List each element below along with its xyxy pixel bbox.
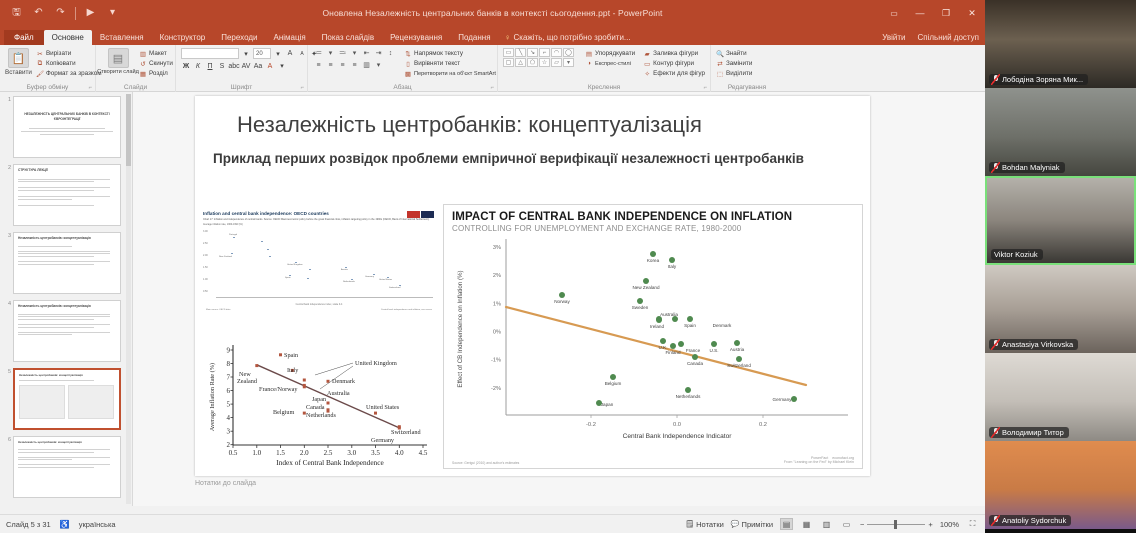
svg-text:1.5: 1.5 bbox=[276, 449, 285, 457]
numbering-icon[interactable]: ≕ bbox=[337, 48, 348, 58]
cut-button[interactable]: ✂ Вирізати bbox=[36, 49, 102, 58]
svg-text:Japan: Japan bbox=[312, 396, 326, 403]
replace-button[interactable]: ⇄ Замінити bbox=[716, 59, 752, 68]
svg-text:U.S.: U.S. bbox=[710, 348, 719, 353]
svg-text:2.0: 2.0 bbox=[300, 449, 309, 457]
slide-thumbnail-5[interactable]: 5 Незалежність центробанків: концептуалі… bbox=[2, 368, 124, 430]
participant-name-chip: Bohdan Malyniak bbox=[989, 162, 1065, 173]
format-painter-button[interactable]: 🖌 Формат за зразком bbox=[36, 69, 102, 78]
increase-indent-icon[interactable]: ⇥ bbox=[373, 48, 384, 58]
bulletin-note: Average inflation rate, 1960-1990 (%) bbox=[203, 223, 435, 226]
svg-text:Canada: Canada bbox=[687, 361, 704, 366]
ribbon-body: 📋 Вставити ✂ Вирізати ⧉ Копіювати bbox=[0, 45, 985, 92]
quick-access-toolbar[interactable]: 🖫 ↶ ↷ ▶ ▾ bbox=[0, 6, 120, 21]
title-bar: 🖫 ↶ ↷ ▶ ▾ Оновлена Незалежність централь… bbox=[0, 0, 985, 26]
arrange-icon: ▤ bbox=[585, 50, 593, 58]
svg-text:France/Norway: France/Norway bbox=[259, 386, 298, 393]
thumb-content[interactable]: Незалежність центробанків: концептуаліза… bbox=[13, 436, 121, 498]
participant-name-chip: Лободіна Зоряна Мик... bbox=[989, 74, 1088, 85]
ribbon-tabs: Файл Основне Вставлення Конструктор Пере… bbox=[0, 26, 985, 45]
credit-site: econofact.org bbox=[832, 456, 854, 460]
customize-qat-icon[interactable]: ▾ bbox=[105, 6, 120, 21]
slide-subtitle[interactable]: Приклад перших розвідок проблеми емпірич… bbox=[213, 150, 858, 168]
bulletin-mini-chart: 3.00 2.50 2.00 1.50 1.00 0.50 Portugal N… bbox=[203, 229, 435, 307]
svg-text:Australia: Australia bbox=[660, 312, 678, 317]
participant-name-chip: Viktor Koziuk bbox=[991, 249, 1043, 260]
notes-label: Нотатки bbox=[696, 520, 724, 529]
quick-styles-button[interactable]: ◑ Експрес-стилі bbox=[585, 59, 635, 68]
participant-name: Bohdan Malyniak bbox=[1002, 163, 1060, 172]
svg-text:4: 4 bbox=[227, 414, 231, 422]
shape-fill-label: Заливка фігури bbox=[653, 50, 698, 57]
copy-icon: ⧉ bbox=[36, 60, 44, 68]
bullets-icon[interactable]: ≔ bbox=[313, 48, 324, 58]
slideshow-icon[interactable]: ▭ bbox=[840, 518, 853, 530]
find-label: Знайти bbox=[726, 50, 747, 57]
align-center-icon[interactable]: ≡ bbox=[325, 60, 336, 70]
bold-icon[interactable]: Ж bbox=[181, 61, 191, 71]
decrease-indent-icon[interactable]: ⇤ bbox=[361, 48, 372, 58]
change-case-icon[interactable]: Aa bbox=[253, 61, 263, 71]
participant-tile-1[interactable]: Лободіна Зоряна Мик... bbox=[985, 0, 1136, 88]
shape-rounded-icon[interactable]: ▢ bbox=[503, 58, 514, 67]
font-color-icon[interactable]: A bbox=[265, 61, 275, 71]
font-color-dropdown-icon[interactable]: ▾ bbox=[277, 61, 287, 71]
participant-tile-2[interactable]: Bohdan Malyniak bbox=[985, 88, 1136, 176]
slide-thumbnail-2[interactable]: 2 СТРУКТУРА ЛЕКЦІЇ bbox=[2, 164, 124, 226]
align-left-icon[interactable]: ≡ bbox=[313, 60, 324, 70]
shape-oval-icon[interactable]: ◯ bbox=[563, 48, 574, 57]
window-controls: ▭ — ❐ ✕ bbox=[881, 0, 985, 26]
svg-text:Spain: Spain bbox=[684, 323, 696, 328]
participant-name-chip: Володимир Титор bbox=[989, 427, 1069, 438]
svg-text:2.5: 2.5 bbox=[324, 449, 333, 457]
slide-thumbnail-1[interactable]: 1 НЕЗАЛЕЖНІСТЬ ЦЕНТРАЛЬНИХ БАНКІВ В КОНТ… bbox=[2, 96, 124, 158]
thumb-content[interactable]: НЕЗАЛЕЖНІСТЬ ЦЕНТРАЛЬНИХ БАНКІВ В КОНТЕК… bbox=[13, 96, 121, 158]
window-title: Оновлена Незалежність центральних банків… bbox=[0, 8, 985, 18]
svg-text:4.5: 4.5 bbox=[419, 449, 428, 457]
participant-name-chip: Anastasiya Virkovska bbox=[989, 339, 1078, 350]
mic-muted-icon bbox=[992, 340, 999, 349]
mic-muted-icon bbox=[992, 428, 999, 437]
quick-styles-icon: ◑ bbox=[585, 60, 593, 68]
shape-pent-icon[interactable]: ⬠ bbox=[527, 58, 538, 67]
titlebar-right-actions: Увійти Спільний доступ bbox=[882, 33, 979, 42]
active-speaker-name: Андрій Яськів bbox=[985, 529, 1136, 533]
new-slide-icon: ▤ bbox=[108, 48, 129, 68]
svg-text:Denmark: Denmark bbox=[332, 378, 356, 385]
new-slide-button[interactable]: ▤ Створити слайд bbox=[101, 48, 135, 75]
thumb-title: Незалежність центробанків: концептуаліза… bbox=[18, 304, 116, 309]
participant-tile-3[interactable]: Viktor Koziuk bbox=[985, 176, 1136, 265]
thumb-title: Незалежність центробанків: концептуаліза… bbox=[18, 440, 116, 444]
tab-insert[interactable]: Вставлення bbox=[92, 30, 152, 45]
cut-label: Вирізати bbox=[46, 50, 71, 57]
bulletin-footer-left: Main source: OECD data bbox=[206, 309, 230, 311]
svg-text:Belgium: Belgium bbox=[273, 409, 294, 416]
tab-design[interactable]: Конструктор bbox=[152, 30, 214, 45]
shape-triangle-icon[interactable]: △ bbox=[515, 58, 526, 67]
font-size-dropdown-icon[interactable]: ▾ bbox=[273, 49, 283, 59]
tell-me-search[interactable]: ♀ Скажіть, що потрібно зробити... bbox=[499, 30, 637, 45]
char-spacing-icon[interactable]: AV bbox=[241, 61, 251, 71]
thumb-content[interactable]: Незалежність центробанків: концептуаліза… bbox=[13, 368, 121, 430]
svg-text:Italy: Italy bbox=[668, 264, 677, 269]
group-label-paragraph: Абзац bbox=[313, 83, 492, 92]
ribbon-display-options-icon[interactable]: ▭ bbox=[881, 0, 907, 26]
shape-outline-button[interactable]: ▭ Контур фігури bbox=[643, 59, 705, 68]
svg-text:3: 3 bbox=[227, 428, 231, 436]
lightbulb-icon: ♀ bbox=[505, 33, 511, 42]
bulletin-footer: Main source: OECD data Central bank inde… bbox=[203, 309, 435, 311]
paste-icon: 📋 bbox=[8, 48, 29, 68]
group-label-clipboard: Буфер обміну bbox=[5, 83, 90, 92]
svg-text:Switzerland: Switzerland bbox=[391, 429, 421, 436]
svg-text:6: 6 bbox=[227, 387, 231, 395]
participant-name: Viktor Koziuk bbox=[994, 250, 1038, 259]
chart-cbi-effect-svg[interactable]: Effect of CB Independence on Inflation (… bbox=[444, 233, 862, 451]
svg-text:Germany: Germany bbox=[371, 437, 395, 444]
text-direction-icon: ⇅ bbox=[404, 50, 412, 58]
zoom-in-button[interactable]: + bbox=[928, 520, 932, 529]
slide-thumbnail-6[interactable]: 6 Незалежність центробанків: концептуалі… bbox=[2, 436, 124, 498]
svg-text:Ireland: Ireland bbox=[650, 324, 664, 329]
svg-text:Netherlands: Netherlands bbox=[676, 394, 701, 399]
credit-brand: PowerFact bbox=[811, 456, 828, 460]
present-icon[interactable]: ▶ bbox=[83, 6, 98, 21]
qat-divider bbox=[75, 7, 76, 20]
justify-icon[interactable]: ≡ bbox=[349, 60, 360, 70]
video-conference-panel: Лободіна Зоряна Мик... Bohdan Malyniak V… bbox=[985, 0, 1136, 533]
bulletin-flag-icon bbox=[407, 211, 434, 218]
participant-tile-5[interactable]: Володимир Титор bbox=[985, 353, 1136, 441]
select-label: Виділити bbox=[726, 70, 752, 77]
slide-thumbnail-pane[interactable]: 1 НЕЗАЛЕЖНІСТЬ ЦЕНТРАЛЬНИХ БАНКІВ В КОНТ… bbox=[0, 92, 133, 506]
thumb-number: 5 bbox=[2, 368, 11, 430]
figure-econofact[interactable]: IMPACT OF CENTRAL BANK INDEPENDENCE ON I… bbox=[443, 204, 863, 469]
new-slide-label: Створити слайд bbox=[97, 69, 139, 75]
svg-text:Spain: Spain bbox=[284, 352, 298, 359]
figure-oecd-bulletin[interactable]: Inflation and central bank independence:… bbox=[200, 209, 438, 469]
tab-file[interactable]: Файл bbox=[4, 30, 44, 45]
participant-tile-4[interactable]: Anastasiya Virkovska bbox=[985, 265, 1136, 353]
ribbon-group-editing: 🔍 Знайти ⇄ Замінити ⬚ Виділити Редаг bbox=[711, 45, 783, 92]
svg-text:0.0: 0.0 bbox=[673, 422, 681, 428]
paragraph-dialog-launcher[interactable]: ⌐ bbox=[490, 85, 494, 91]
ribbon-group-drawing: ▭ ╲ ↘ ⌐ ◠ ◯ ▢ △ ⬠ ☆ ▱ ▾ bbox=[498, 45, 711, 92]
scrollbar-thumb[interactable] bbox=[126, 94, 131, 166]
format-painter-label: Формат за зразком bbox=[46, 70, 102, 77]
svg-text:Austria: Austria bbox=[730, 347, 745, 352]
layout-label: Макет bbox=[149, 50, 167, 57]
svg-text:Switzerland: Switzerland bbox=[727, 363, 751, 368]
svg-text:New: New bbox=[239, 371, 251, 378]
shape-effects-icon: ✧ bbox=[643, 70, 651, 78]
svg-text:7: 7 bbox=[227, 373, 231, 381]
comment-icon: 💬 bbox=[731, 520, 740, 528]
save-icon[interactable]: 🖫 bbox=[9, 6, 24, 21]
thumb-content[interactable]: Незалежність центробанків: концептуаліза… bbox=[13, 232, 121, 294]
smartart-label: Перетворити на об'єкт SmartArt bbox=[414, 71, 496, 77]
paste-button[interactable]: 📋 Вставити bbox=[5, 48, 32, 76]
svg-text:Finland: Finland bbox=[665, 350, 681, 355]
powerpoint-window: 🖫 ↶ ↷ ▶ ▾ Оновлена Незалежність централь… bbox=[0, 0, 985, 533]
select-button[interactable]: ⬚ Виділити bbox=[716, 69, 752, 78]
svg-text:0.5: 0.5 bbox=[229, 449, 238, 457]
zoom-level: 100% bbox=[940, 520, 959, 529]
econofact-subhead: CONTROLLING FOR UNEMPLOYMENT AND EXCHANG… bbox=[444, 223, 862, 233]
shape-rect-icon[interactable]: ▭ bbox=[503, 48, 514, 57]
shape-line-icon[interactable]: ╲ bbox=[515, 48, 526, 57]
zoom-thumb[interactable] bbox=[894, 520, 897, 529]
shape-connector-icon[interactable]: ⌐ bbox=[539, 48, 550, 57]
mic-muted-icon bbox=[992, 516, 999, 525]
font-dialog-launcher[interactable]: ⌐ bbox=[300, 85, 304, 91]
smartart-button[interactable]: ▩ Перетворити на об'єкт SmartArt bbox=[404, 69, 496, 78]
ribbon-group-font: ▾ 20 ▾ A A ✦ Ж К П S abc AV Aa bbox=[176, 45, 308, 92]
undo-icon[interactable]: ↶ bbox=[31, 6, 46, 21]
section-icon: ▦ bbox=[139, 70, 147, 78]
svg-text:4.0: 4.0 bbox=[395, 449, 404, 457]
svg-text:Zealand: Zealand bbox=[237, 378, 258, 385]
layout-icon: ▥ bbox=[139, 50, 147, 58]
reset-icon: ↺ bbox=[139, 60, 147, 68]
font-name-input[interactable] bbox=[181, 48, 239, 59]
bulletin-xlabel: Central bank independence index, scale 0… bbox=[203, 303, 435, 306]
layout-button[interactable]: ▥ Макет bbox=[139, 49, 173, 58]
svg-text:3.0: 3.0 bbox=[347, 449, 356, 457]
svg-text:2%: 2% bbox=[493, 273, 501, 279]
quick-styles-label: Експрес-стилі bbox=[595, 61, 631, 67]
tab-review[interactable]: Рецензування bbox=[382, 30, 450, 45]
work-area: 1 НЕЗАЛЕЖНІСТЬ ЦЕНТРАЛЬНИХ БАНКІВ В КОНТ… bbox=[0, 92, 985, 506]
thumb-number: 4 bbox=[2, 300, 11, 362]
svg-text:Index of Central Bank Independ: Index of Central Bank Independence bbox=[276, 458, 383, 467]
text-direction-label: Напрямок тексту bbox=[414, 50, 463, 57]
underline-icon[interactable]: П bbox=[205, 61, 215, 71]
font-name-dropdown-icon[interactable]: ▾ bbox=[241, 49, 251, 59]
paste-label: Вставити bbox=[5, 69, 32, 76]
fit-to-window-icon[interactable]: ⛶ bbox=[966, 518, 979, 530]
svg-text:New Zealand: New Zealand bbox=[632, 285, 660, 290]
bulletin-headline: Inflation and central bank independence:… bbox=[203, 211, 435, 216]
svg-text:Germany: Germany bbox=[773, 397, 793, 402]
strikethrough-icon[interactable]: abc bbox=[229, 61, 239, 71]
svg-text:2: 2 bbox=[227, 441, 231, 449]
copy-button[interactable]: ⧉ Копіювати bbox=[36, 59, 102, 68]
ribbon-group-clipboard: 📋 Вставити ✂ Вирізати ⧉ Копіювати bbox=[0, 45, 96, 92]
notes-toggle[interactable]: 🗒 Нотатки bbox=[685, 520, 724, 529]
thumb-content[interactable]: Незалежність центробанків: концептуаліза… bbox=[13, 300, 121, 362]
chart-index-vs-inflation[interactable]: Average Inflation Rate (%) 9 8 7 6 5 4 3 bbox=[203, 339, 438, 467]
svg-text:Australia: Australia bbox=[327, 390, 350, 397]
comments-label: Примітки bbox=[742, 520, 773, 529]
replace-icon: ⇄ bbox=[716, 60, 724, 68]
smartart-icon: ▩ bbox=[404, 70, 412, 78]
align-right-icon[interactable]: ≡ bbox=[337, 60, 348, 70]
thumb-title: Незалежність центробанків: концептуаліза… bbox=[18, 236, 116, 241]
restore-button[interactable]: ❐ bbox=[933, 0, 959, 26]
arrange-button[interactable]: ▤ Упорядкувати bbox=[585, 49, 635, 58]
group-label-slides: Слайди bbox=[101, 83, 170, 92]
notes-icon: 🗒 bbox=[685, 520, 694, 528]
svg-text:-2%: -2% bbox=[491, 386, 501, 392]
svg-text:Sweden: Sweden bbox=[632, 305, 649, 310]
shadow-icon[interactable]: S bbox=[217, 61, 227, 71]
thumb-number: 6 bbox=[2, 436, 11, 498]
thumbnail-scrollbar[interactable] bbox=[126, 94, 131, 504]
svg-text:United States: United States bbox=[366, 404, 400, 411]
tab-transitions[interactable]: Переходи bbox=[213, 30, 265, 45]
participant-name: Anastasiya Virkovska bbox=[1002, 340, 1073, 349]
participant-name: Володимир Титор bbox=[1002, 428, 1064, 437]
slide-canvas-area: Незалежність центробанків: концептуаліза… bbox=[133, 92, 985, 506]
slide-thumbnail-3[interactable]: 3 Незалежність центробанків: концептуалі… bbox=[2, 232, 124, 294]
shape-effects-button[interactable]: ✧ Ефекти для фігур bbox=[643, 69, 705, 78]
svg-text:Effect of CB Independence on I: Effect of CB Independence on Inflation (… bbox=[457, 270, 464, 387]
share-button[interactable]: Спільний доступ bbox=[917, 33, 979, 42]
svg-text:0.2: 0.2 bbox=[759, 422, 767, 428]
normal-view-icon[interactable]: ▤ bbox=[780, 518, 793, 530]
shapes-more-icon[interactable]: ▾ bbox=[563, 58, 574, 67]
svg-text:Korea: Korea bbox=[647, 258, 660, 263]
svg-text:5: 5 bbox=[227, 400, 231, 408]
align-text-icon: ▯ bbox=[404, 60, 412, 68]
find-button[interactable]: 🔍 Знайти bbox=[716, 49, 752, 58]
thumb-title: НЕЗАЛЕЖНІСТЬ ЦЕНТРАЛЬНИХ БАНКІВ В КОНТЕК… bbox=[18, 112, 116, 122]
clipboard-dialog-launcher[interactable]: ⌐ bbox=[88, 85, 92, 91]
minimize-button[interactable]: — bbox=[907, 0, 933, 26]
align-text-button[interactable]: ▯ Вирівняти текст bbox=[404, 59, 496, 68]
tab-home[interactable]: Основне bbox=[44, 30, 92, 45]
econofact-credit: PowerFact econofact.org From "Leaning on… bbox=[784, 456, 854, 465]
columns-dropdown-icon[interactable]: ▾ bbox=[373, 60, 384, 70]
notes-placeholder[interactable]: Нотатки до слайда bbox=[195, 480, 870, 487]
sign-in-link[interactable]: Увійти bbox=[882, 33, 905, 42]
tab-animations[interactable]: Анімація bbox=[265, 30, 313, 45]
font-size-input[interactable]: 20 bbox=[253, 48, 271, 59]
slide-counter: Слайд 5 з 31 bbox=[6, 520, 51, 529]
svg-text:Japan: Japan bbox=[601, 402, 614, 407]
shrink-font-icon[interactable]: A bbox=[297, 49, 307, 59]
svg-text:8: 8 bbox=[227, 360, 231, 368]
shape-star-icon[interactable]: ☆ bbox=[539, 58, 550, 67]
format-painter-icon: 🖌 bbox=[36, 70, 44, 78]
status-bar: Слайд 5 з 31 ♿ українська 🗒 Нотатки 💬 Пр… bbox=[0, 514, 985, 533]
svg-text:Italy: Italy bbox=[287, 367, 299, 374]
bulletin-footer-right: Central bank independence and inflation,… bbox=[381, 309, 432, 311]
svg-text:1%: 1% bbox=[493, 301, 501, 307]
thumb-content[interactable]: СТРУКТУРА ЛЕКЦІЇ bbox=[13, 164, 121, 226]
shape-fill-button[interactable]: ▰ Заливка фігури bbox=[643, 49, 705, 58]
group-label-editing: Редагування bbox=[716, 83, 778, 92]
select-icon: ⬚ bbox=[716, 70, 724, 78]
shape-outline-label: Контур фігури bbox=[653, 60, 694, 67]
group-label-font: Шрифт bbox=[181, 83, 302, 92]
section-button[interactable]: ▦ Розділ bbox=[139, 69, 173, 78]
participant-name-chip: Anatoliy Sydorchuk bbox=[989, 515, 1071, 526]
svg-text:-0.2: -0.2 bbox=[586, 422, 596, 428]
econofact-source: Source: Gerigui (2010) and author's esti… bbox=[452, 461, 519, 465]
accessibility-icon[interactable]: ♿ bbox=[60, 520, 70, 529]
redo-icon[interactable]: ↷ bbox=[53, 6, 68, 21]
shape-callout-icon[interactable]: ▱ bbox=[551, 58, 562, 67]
line-spacing-icon[interactable]: ↕ bbox=[385, 48, 396, 58]
reset-button[interactable]: ↺ Скинути bbox=[139, 59, 173, 68]
tab-view[interactable]: Подання bbox=[450, 30, 498, 45]
svg-text:3.5: 3.5 bbox=[371, 449, 380, 457]
numbering-dropdown-icon[interactable]: ▾ bbox=[349, 48, 360, 58]
svg-text:1.0: 1.0 bbox=[252, 449, 261, 457]
slide-canvas[interactable]: Незалежність центробанків: концептуаліза… bbox=[195, 96, 870, 476]
bullets-dropdown-icon[interactable]: ▾ bbox=[325, 48, 336, 58]
slide-thumbnail-4[interactable]: 4 Незалежність центробанків: концептуалі… bbox=[2, 300, 124, 362]
svg-text:3%: 3% bbox=[493, 245, 501, 251]
slide-title[interactable]: Незалежність центробанків: концептуаліза… bbox=[237, 112, 702, 138]
shape-arrow-icon[interactable]: ↘ bbox=[527, 48, 538, 57]
participant-name: Anatoliy Sydorchuk bbox=[1002, 516, 1066, 525]
svg-text:Denmark: Denmark bbox=[713, 323, 732, 328]
language-indicator[interactable]: українська bbox=[79, 520, 116, 529]
zoom-out-button[interactable]: − bbox=[860, 520, 864, 529]
tell-me-placeholder: Скажіть, що потрібно зробити... bbox=[514, 33, 631, 42]
credit-attribution: From "Leaning on the Fed" by Michael Kle… bbox=[784, 460, 854, 465]
econofact-headline: IMPACT OF CENTRAL BANK INDEPENDENCE ON I… bbox=[444, 205, 862, 223]
svg-text:United Kingdom: United Kingdom bbox=[355, 360, 397, 367]
find-icon: 🔍 bbox=[716, 50, 724, 58]
columns-icon[interactable]: ▥ bbox=[361, 60, 372, 70]
italic-icon[interactable]: К bbox=[193, 61, 203, 71]
thumb-number: 2 bbox=[2, 164, 11, 226]
align-text-label: Вирівняти текст bbox=[414, 60, 460, 67]
shape-effects-label: Ефекти для фігур bbox=[653, 70, 705, 77]
svg-text:Netherlands: Netherlands bbox=[306, 412, 336, 419]
drawing-dialog-launcher[interactable]: ⌐ bbox=[703, 85, 707, 91]
svg-text:-1%: -1% bbox=[491, 358, 501, 364]
participant-name: Лободіна Зоряна Мик... bbox=[1002, 75, 1083, 84]
participant-tile-6[interactable]: Anatoliy Sydorchuk bbox=[985, 441, 1136, 529]
section-label: Розділ bbox=[149, 70, 168, 77]
cut-icon: ✂ bbox=[36, 50, 44, 58]
reset-label: Скинути bbox=[149, 60, 173, 67]
svg-text:Average Inflation Rate (%): Average Inflation Rate (%) bbox=[209, 363, 216, 431]
zoom-slider[interactable]: − + bbox=[860, 520, 933, 529]
svg-text:Norway: Norway bbox=[554, 299, 570, 304]
thumb-title: СТРУКТУРА ЛЕКЦІЇ bbox=[18, 168, 116, 173]
shape-outline-icon: ▭ bbox=[643, 60, 651, 68]
sorter-view-icon[interactable]: ▦ bbox=[800, 518, 813, 530]
screen: 🖫 ↶ ↷ ▶ ▾ Оновлена Незалежність централь… bbox=[0, 0, 1136, 533]
reading-view-icon[interactable]: ▥ bbox=[820, 518, 833, 530]
grow-font-icon[interactable]: A bbox=[285, 49, 295, 59]
bulletin-paragraph: Chart 17: Inflation and independence of … bbox=[203, 218, 435, 221]
comments-toggle[interactable]: 💬 Примітки bbox=[731, 520, 773, 529]
tab-slideshow[interactable]: Показ слайдів bbox=[314, 30, 382, 45]
thumb-title: Незалежність центробанків: концептуаліза… bbox=[19, 373, 115, 377]
mic-muted-icon bbox=[992, 75, 999, 84]
replace-label: Замінити bbox=[726, 60, 752, 67]
ribbon-group-paragraph: ≔ ▾ ≕ ▾ ⇤ ⇥ ↕ ≡ ≡ ≡ ≡ bbox=[308, 45, 498, 92]
shapes-gallery[interactable]: ▭ ╲ ↘ ⌐ ◠ ◯ ▢ △ ⬠ ☆ ▱ ▾ bbox=[503, 48, 578, 67]
bulletin-header: Inflation and central bank independence:… bbox=[200, 209, 438, 335]
svg-text:Central Bank Independence Indi: Central Bank Independence Indicator bbox=[623, 433, 733, 440]
mic-muted-icon bbox=[992, 163, 999, 172]
shape-curve-icon[interactable]: ◠ bbox=[551, 48, 562, 57]
text-direction-button[interactable]: ⇅ Напрямок тексту bbox=[404, 49, 496, 58]
close-button[interactable]: ✕ bbox=[959, 0, 985, 26]
zoom-track[interactable] bbox=[867, 524, 925, 525]
svg-text:0%: 0% bbox=[493, 330, 501, 336]
